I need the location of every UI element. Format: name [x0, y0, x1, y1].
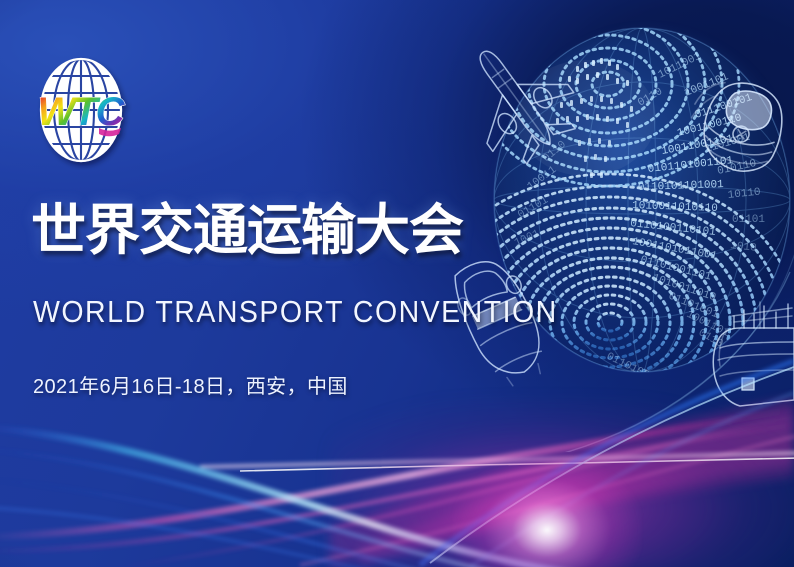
banner-title-english: WORLD TRANSPORT CONVENTION	[33, 296, 558, 327]
wtc-conference-banner: 1011001 1001101 0110 011100101 100110011…	[0, 0, 794, 567]
banner-content: WTC 世界交通运输大会 WORLD TRANSPORT CONVENTION …	[0, 0, 470, 567]
banner-title-chinese: 世界交通运输大会	[31, 203, 463, 258]
wtc-globe-logo: WTC	[27, 52, 139, 170]
banner-date-location: 2021年6月16日-18日，西安，中国	[33, 377, 348, 397]
wtc-wordmark: WTC	[37, 90, 125, 134]
